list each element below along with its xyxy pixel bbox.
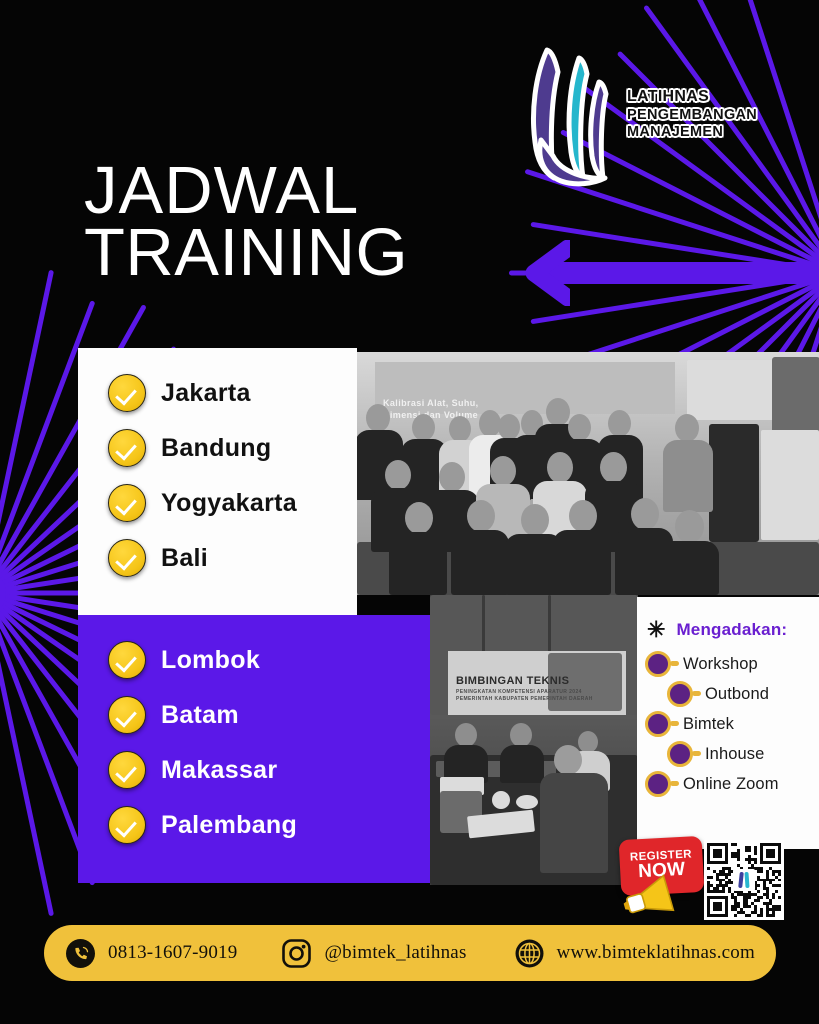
- check-circle-icon: [108, 806, 146, 844]
- contact-instagram-text: @bimtek_latihnas: [324, 942, 466, 964]
- city-label: Bandung: [161, 434, 271, 463]
- headline-line-2: TRAINING: [84, 222, 604, 284]
- service-label: Outbond: [705, 685, 769, 704]
- service-item: Bimtek: [637, 711, 819, 737]
- check-circle-icon: [108, 641, 146, 679]
- globe-icon: [515, 939, 544, 968]
- service-item: Outbond: [637, 681, 819, 707]
- services-panel: ✳ Mengadakan: Workshop Outbond Bimtek In…: [637, 597, 819, 849]
- service-item: Online Zoom: [637, 771, 819, 797]
- city-label: Batam: [161, 701, 239, 730]
- contact-instagram[interactable]: @bimtek_latihnas: [282, 939, 466, 968]
- contact-phone-text: 0813-1607-9019: [108, 942, 237, 964]
- services-title: Mengadakan:: [676, 620, 787, 640]
- photo-group-participants: Kalibrasi Alat, Suhu, Dimensi dan Volume: [357, 352, 819, 595]
- bullet-dot-icon: [645, 711, 671, 737]
- phone-icon: [66, 939, 95, 968]
- brand-line-3: MANAJEMEN: [627, 124, 782, 141]
- city-item: Yogyakarta: [108, 484, 357, 522]
- qr-code-icon[interactable]: [704, 840, 784, 920]
- brand-logo-text: LATIHNAS PENGEMBANGAN MANAJEMEN: [627, 88, 782, 141]
- bullet-dot-icon: [667, 741, 693, 767]
- photo-bimbingan-teknis: BIMBINGAN TEKNIS PENINGKATAN KOMPETENSI …: [430, 595, 638, 885]
- bullet-dot-icon: [645, 771, 671, 797]
- headline-line-1: JADWAL: [84, 160, 604, 222]
- service-label: Inhouse: [705, 745, 764, 764]
- city-item: Lombok: [108, 641, 430, 679]
- service-item: Inhouse: [637, 741, 819, 767]
- city-item: Bali: [108, 539, 357, 577]
- service-label: Workshop: [683, 655, 758, 674]
- city-item: Palembang: [108, 806, 430, 844]
- service-item: Workshop: [637, 651, 819, 677]
- instagram-icon: [282, 939, 311, 968]
- page-title: JADWAL TRAINING: [84, 160, 604, 285]
- check-circle-icon: [108, 751, 146, 789]
- cities-list-white: Jakarta Bandung Yogyakarta Bali: [78, 348, 357, 577]
- check-circle-icon: [108, 696, 146, 734]
- service-label: Online Zoom: [683, 775, 779, 794]
- services-header: ✳ Mengadakan:: [637, 597, 819, 647]
- contact-website[interactable]: www.bimteklatihnas.com: [515, 939, 755, 968]
- city-label: Palembang: [161, 811, 297, 840]
- city-item: Makassar: [108, 751, 430, 789]
- brand-line-1: LATIHNAS: [627, 88, 782, 107]
- service-label: Bimtek: [683, 715, 734, 734]
- city-label: Makassar: [161, 756, 277, 785]
- check-circle-icon: [108, 429, 146, 467]
- city-label: Yogyakarta: [161, 489, 297, 518]
- contact-footer: 0813-1607-9019 @bimtek_latihnas www.bimt…: [44, 925, 776, 981]
- qr-center-logo-icon: [733, 869, 755, 891]
- brand-line-2: PENGEMBANGAN: [627, 107, 782, 124]
- city-item: Bandung: [108, 429, 357, 467]
- cities-list-purple: Lombok Batam Makassar Palembang: [78, 615, 430, 844]
- contact-website-text: www.bimteklatihnas.com: [557, 942, 755, 964]
- cities-panel-white: Jakarta Bandung Yogyakarta Bali: [78, 348, 357, 615]
- bullet-dot-icon: [667, 681, 693, 707]
- contact-phone[interactable]: 0813-1607-9019: [66, 939, 237, 968]
- cities-panel-purple: Lombok Batam Makassar Palembang: [78, 615, 430, 883]
- city-item: Jakarta: [108, 374, 357, 412]
- city-label: Lombok: [161, 646, 260, 675]
- bullet-dot-icon: [645, 651, 671, 677]
- city-label: Jakarta: [161, 379, 251, 408]
- city-label: Bali: [161, 544, 208, 573]
- check-circle-icon: [108, 539, 146, 577]
- check-circle-icon: [108, 374, 146, 412]
- asterisk-icon: ✳: [647, 619, 665, 641]
- check-circle-icon: [108, 484, 146, 522]
- city-item: Batam: [108, 696, 430, 734]
